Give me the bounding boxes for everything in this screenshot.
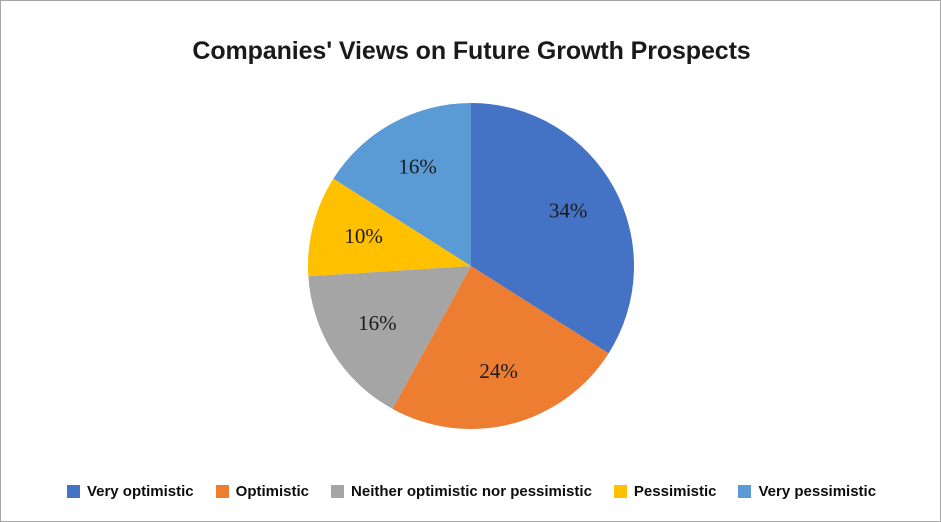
pie-slice-group — [308, 103, 634, 429]
pie-data-label: 34% — [549, 198, 588, 222]
pie-data-label: 16% — [358, 311, 397, 335]
legend-item[interactable]: Optimistic — [216, 484, 309, 499]
pie-data-label: 10% — [344, 224, 383, 248]
legend-item-label: Very pessimistic — [758, 484, 876, 499]
legend-swatch-icon — [67, 485, 80, 498]
pie-data-label: 16% — [398, 155, 437, 179]
legend-item-label: Optimistic — [236, 484, 309, 499]
legend-swatch-icon — [216, 485, 229, 498]
legend-item-label: Neither optimistic nor pessimistic — [351, 484, 592, 499]
chart-container: Companies' Views on Future Growth Prospe… — [0, 0, 941, 522]
pie-chart-plot-area: 34%24%16%10%16% — [1, 1, 941, 471]
legend-item[interactable]: Pessimistic — [614, 484, 717, 499]
pie-data-label: 24% — [479, 359, 518, 383]
legend-item-label: Very optimistic — [87, 484, 194, 499]
legend-item-label: Pessimistic — [634, 484, 717, 499]
legend-swatch-icon — [331, 485, 344, 498]
legend-item[interactable]: Very optimistic — [67, 484, 194, 499]
chart-legend: Very optimisticOptimisticNeither optimis… — [1, 484, 941, 499]
legend-swatch-icon — [614, 485, 627, 498]
legend-item[interactable]: Very pessimistic — [738, 484, 876, 499]
legend-item[interactable]: Neither optimistic nor pessimistic — [331, 484, 592, 499]
legend-swatch-icon — [738, 485, 751, 498]
